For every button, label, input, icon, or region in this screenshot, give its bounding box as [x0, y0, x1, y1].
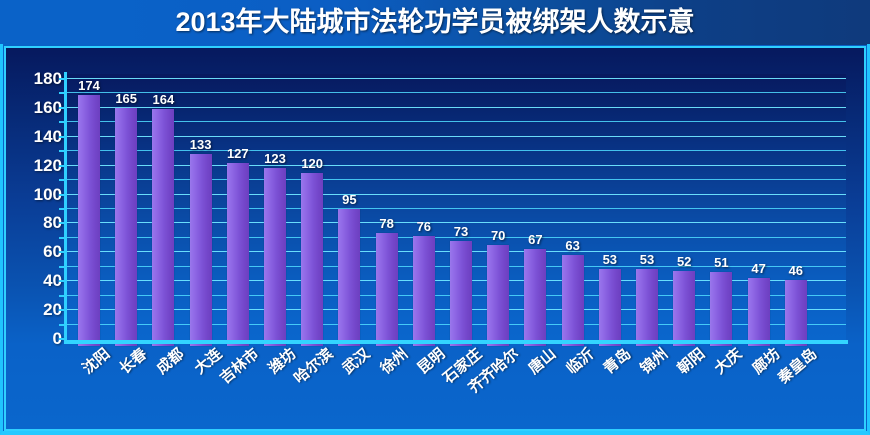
bar-column: 73	[450, 74, 472, 342]
bar-value-label: 165	[106, 92, 146, 105]
bar-value-label: 95	[329, 193, 369, 206]
x-axis-category-labels: 沈阳长春成都大连吉林市潍坊哈尔滨武汉徐州昆明石家庄齐齐哈尔唐山临沂青岛锦州朝阳大…	[0, 344, 870, 424]
bar-column: 47	[748, 74, 770, 342]
x-axis-label-text: 朝阳	[675, 346, 708, 377]
bar-value-label: 47	[739, 262, 779, 275]
bar	[785, 280, 807, 346]
y-axis-tick-label: 60	[4, 243, 62, 260]
y-axis-tick	[59, 78, 65, 80]
bar-column: 78	[376, 74, 398, 342]
x-axis-label: 锦州	[638, 346, 671, 377]
bar-column: 174	[78, 74, 100, 342]
bar-column: 127	[227, 74, 249, 342]
x-axis-label-text: 沈阳	[80, 346, 113, 377]
x-axis-label-text: 青岛	[601, 346, 634, 377]
bar	[562, 255, 584, 346]
bar-column: 165	[115, 74, 137, 342]
bar	[599, 269, 621, 346]
x-axis-label-text: 锦州	[638, 346, 671, 377]
bar-value-label: 52	[664, 255, 704, 268]
bar-column: 51	[710, 74, 732, 342]
bar-value-label: 127	[218, 147, 258, 160]
x-axis-label: 吉林市	[217, 346, 261, 386]
x-axis-label: 徐州	[378, 346, 411, 377]
bar-value-label: 120	[292, 157, 332, 170]
bar-value-label: 51	[701, 256, 741, 269]
bar-value-label: 53	[590, 253, 630, 266]
y-axis-tick	[59, 165, 65, 167]
x-axis-label-text: 临沂	[564, 346, 597, 377]
y-axis-tick	[59, 266, 65, 268]
bar-column: 70	[487, 74, 509, 342]
x-axis-label: 唐山	[526, 346, 559, 377]
y-axis-tick	[59, 338, 65, 340]
y-axis-tick	[59, 208, 65, 210]
y-axis-tick	[59, 280, 65, 282]
y-axis-tick	[59, 309, 65, 311]
x-axis-label: 长春	[117, 346, 150, 377]
bar	[450, 241, 472, 346]
bar-value-label: 70	[478, 229, 518, 242]
bar	[376, 233, 398, 346]
bar-value-label: 123	[255, 152, 295, 165]
bar-value-label: 63	[553, 239, 593, 252]
x-axis-label-text: 唐山	[526, 346, 559, 377]
y-axis-tick	[59, 251, 65, 253]
y-axis-tick	[59, 121, 65, 123]
y-axis-tick	[59, 222, 65, 224]
bar-column: 120	[301, 74, 323, 342]
bar	[190, 154, 212, 346]
bar-value-label: 73	[441, 225, 481, 238]
x-axis-label: 秦皇岛	[775, 346, 819, 386]
y-axis-tick-label: 80	[4, 214, 62, 231]
y-axis-tick-label: 120	[4, 157, 62, 174]
bar-value-label: 67	[515, 233, 555, 246]
y-axis-tick	[59, 324, 65, 326]
bar-column: 46	[785, 74, 807, 342]
bar-value-label: 76	[404, 220, 444, 233]
y-axis-tick	[59, 237, 65, 239]
x-axis-label: 成都	[154, 346, 187, 377]
x-axis-label: 朝阳	[675, 346, 708, 377]
y-axis-tick-label: 100	[4, 186, 62, 203]
bar-value-label: 53	[627, 253, 667, 266]
y-axis-tick	[59, 295, 65, 297]
bar-column: 53	[599, 74, 621, 342]
bar	[636, 269, 658, 346]
y-axis-tick-label: 180	[4, 70, 62, 87]
bar-series: 1741651641331271231209578767370676353535…	[66, 74, 846, 342]
bar-column: 53	[636, 74, 658, 342]
bar	[301, 173, 323, 346]
page-title: 2013年大陆城市法轮功学员被绑架人数示意	[175, 9, 694, 36]
bar	[264, 168, 286, 346]
bar-column: 133	[190, 74, 212, 342]
bar-value-label: 174	[69, 79, 109, 92]
x-axis-label: 临沂	[564, 346, 597, 377]
bar	[673, 271, 695, 346]
y-axis-tick	[59, 179, 65, 181]
bar	[78, 95, 100, 346]
bar-column: 52	[673, 74, 695, 342]
plot-area: 1741651641331271231209578767370676353535…	[66, 74, 846, 342]
x-axis-label: 大庆	[712, 346, 745, 377]
y-axis-tick	[59, 136, 65, 138]
x-axis-label: 沈阳	[80, 346, 113, 377]
x-axis-label: 哈尔滨	[292, 346, 336, 386]
bar-column: 67	[524, 74, 546, 342]
bar	[152, 109, 174, 346]
x-axis-label-text: 哈尔滨	[292, 346, 336, 386]
bar	[115, 108, 137, 346]
bar	[227, 163, 249, 346]
bar	[338, 209, 360, 346]
bar	[413, 236, 435, 346]
y-axis-tick	[59, 92, 65, 94]
bar	[748, 278, 770, 346]
bar-value-label: 164	[143, 93, 183, 106]
y-axis-tick-label: 140	[4, 128, 62, 145]
title-banner: 2013年大陆城市法轮功学员被绑架人数示意	[0, 0, 870, 45]
bar-column: 95	[338, 74, 360, 342]
y-axis-tick	[59, 150, 65, 152]
x-axis-label-text: 徐州	[378, 346, 411, 377]
x-axis-label-text: 吉林市	[217, 346, 261, 386]
x-axis-label-text: 秦皇岛	[775, 346, 819, 386]
bar	[487, 245, 509, 346]
bar-value-label: 78	[367, 217, 407, 230]
bar-value-label: 46	[776, 264, 816, 277]
bar-value-label: 133	[181, 138, 221, 151]
bar-column: 76	[413, 74, 435, 342]
bar-column: 123	[264, 74, 286, 342]
y-axis-tick	[59, 194, 65, 196]
x-axis-label-text: 大庆	[712, 346, 745, 377]
bar-column: 164	[152, 74, 174, 342]
y-axis-tick-label: 40	[4, 272, 62, 289]
y-axis-tick	[59, 107, 65, 109]
bar	[524, 249, 546, 346]
x-axis-label-text: 武汉	[340, 346, 373, 377]
bar	[710, 272, 732, 346]
bar-column: 63	[562, 74, 584, 342]
x-axis-label: 武汉	[340, 346, 373, 377]
y-axis-tick-label: 160	[4, 99, 62, 116]
x-axis-label-text: 长春	[117, 346, 150, 377]
x-axis-label-text: 成都	[154, 346, 187, 377]
y-axis-tick-label: 20	[4, 301, 62, 318]
x-axis-label: 青岛	[601, 346, 634, 377]
chart-screenshot: 2013年大陆城市法轮功学员被绑架人数示意 174165164133127123…	[0, 0, 870, 435]
